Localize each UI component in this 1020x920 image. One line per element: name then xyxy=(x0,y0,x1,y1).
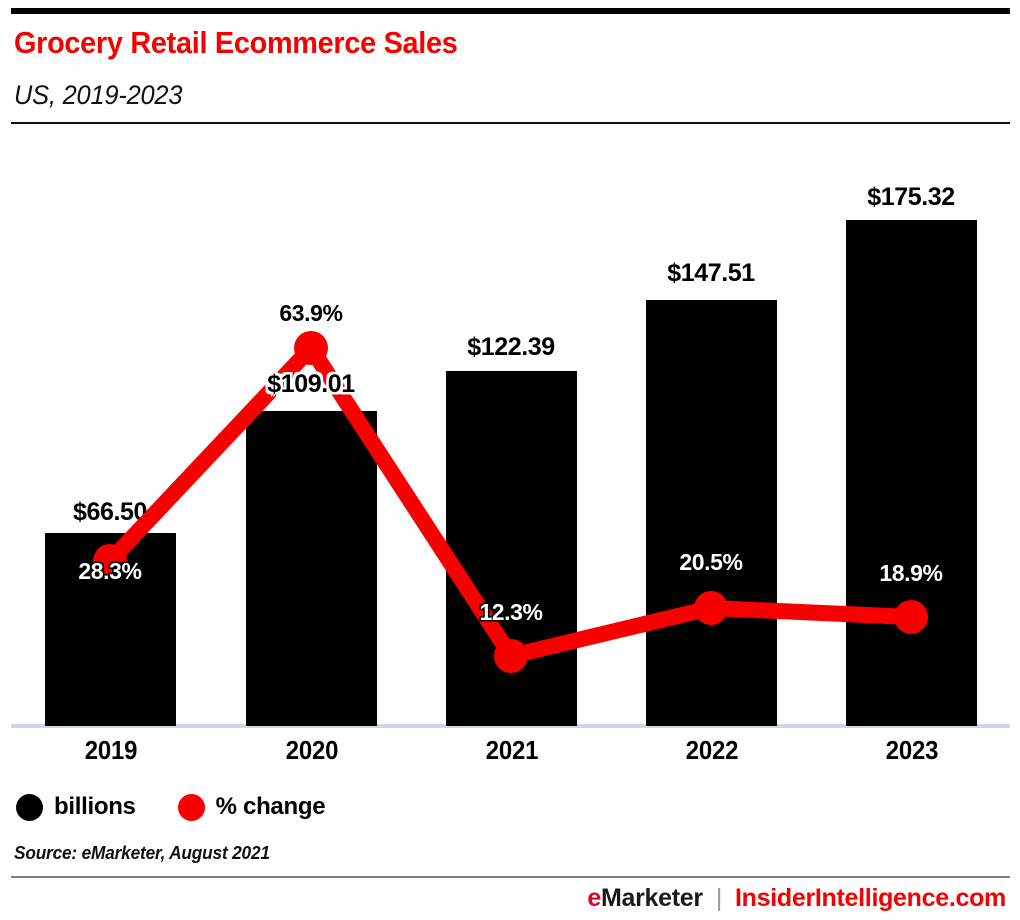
chart-legend: billions % change xyxy=(16,793,325,821)
bar-2021 xyxy=(446,371,577,726)
bar-2022 xyxy=(646,300,777,726)
circle-black-icon xyxy=(16,794,43,821)
bar-2020 xyxy=(246,411,377,726)
legend-label-billions: billions xyxy=(54,793,136,821)
x-tick-2022: 2022 xyxy=(620,735,804,766)
x-tick-2019: 2019 xyxy=(19,735,203,766)
brand-emarketer[interactable]: eMarketer xyxy=(587,884,702,913)
percent-label-2021: 12.3% xyxy=(411,599,611,626)
percent-label-2023: 18.9% xyxy=(811,560,1011,587)
bar-value-2023: $175.32 xyxy=(801,183,1020,212)
brand-site-link[interactable]: InsiderIntelligence.com xyxy=(735,884,1006,913)
percent-label-2022: 20.5% xyxy=(611,549,811,576)
x-tick-2021: 2021 xyxy=(420,735,604,766)
percent-label-2019: 28.3% xyxy=(10,558,210,585)
chart-page: Grocery Retail Ecommerce Sales US, 2019-… xyxy=(0,0,1020,920)
chart-plot-area: $66.50 $109.01 $122.39 $147.51 $175.32 2… xyxy=(0,0,1020,920)
legend-item-percent-change: % change xyxy=(178,793,326,821)
bar-value-2020: $109.01 xyxy=(201,370,421,399)
circle-red-icon xyxy=(178,794,205,821)
x-tick-2023: 2023 xyxy=(820,735,1004,766)
source-note: Source: eMarketer, August 2021 xyxy=(14,843,270,864)
brand-prefix: e xyxy=(587,884,601,912)
footer-divider xyxy=(11,876,1010,878)
bar-2023 xyxy=(846,220,977,726)
brand-separator: | xyxy=(703,884,735,913)
footer-branding: eMarketer | InsiderIntelligence.com xyxy=(587,884,1006,913)
x-tick-2020: 2020 xyxy=(220,735,404,766)
bar-value-2022: $147.51 xyxy=(601,259,821,288)
bar-value-2019: $66.50 xyxy=(0,498,220,527)
percent-label-2020: 63.9% xyxy=(211,300,411,327)
legend-item-billions: billions xyxy=(16,793,136,821)
legend-label-percent-change: % change xyxy=(216,793,326,821)
brand-name: Marketer xyxy=(601,884,703,912)
bar-value-2021: $122.39 xyxy=(401,333,621,362)
